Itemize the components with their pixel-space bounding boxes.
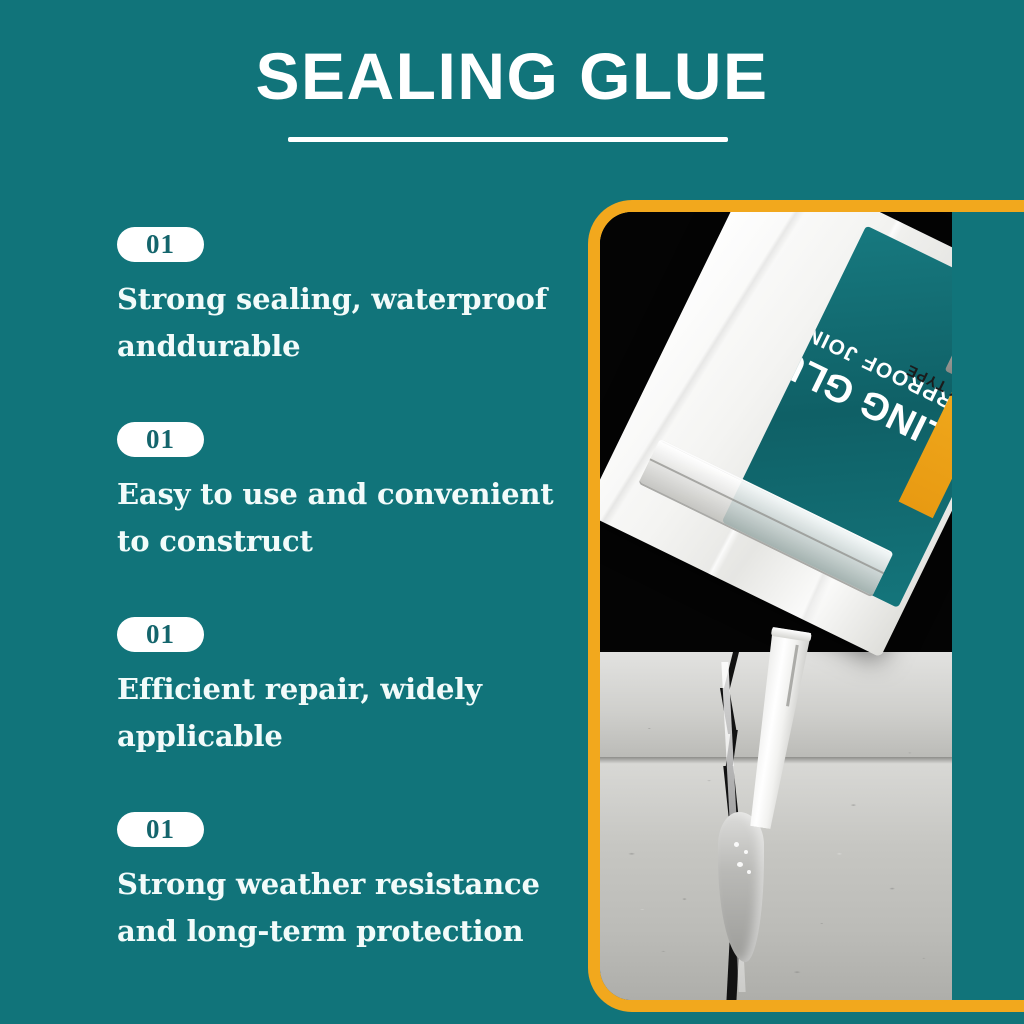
- poster-canvas: SEALING GLUE 01 Strong sealing, waterpro…: [0, 0, 1024, 1024]
- feature-item: 01 Strong weather resistance and long-te…: [117, 812, 587, 1007]
- panel-background-fill: [952, 212, 1024, 1000]
- feature-badge: 01: [117, 227, 204, 262]
- feature-text: Efficient repair, widely applicable: [117, 666, 567, 760]
- feature-text: Strong weather resistance and long-term …: [117, 861, 567, 955]
- feature-item: 01 Efficient repair, widely applicable: [117, 617, 587, 812]
- page-title: SEALING GLUE: [0, 40, 1024, 112]
- title-underline: [288, 137, 728, 142]
- feature-badge: 01: [117, 812, 204, 847]
- feature-text: Strong sealing, waterproof anddurable: [117, 276, 567, 370]
- feature-text: Easy to use and convenient to construct: [117, 471, 567, 565]
- product-photo: SEALING GLUE WATERPROOF JOINT QUICK-DRY …: [600, 212, 952, 1000]
- feature-badge: 01: [117, 422, 204, 457]
- product-photo-panel: SEALING GLUE WATERPROOF JOINT QUICK-DRY …: [588, 200, 1024, 1012]
- feature-item: 01 Easy to use and convenient to constru…: [117, 422, 587, 617]
- feature-badge: 01: [117, 617, 204, 652]
- feature-list: 01 Strong sealing, waterproof anddurable…: [117, 227, 587, 1007]
- feature-item: 01 Strong sealing, waterproof anddurable: [117, 227, 587, 422]
- glue-droplets: [732, 840, 758, 880]
